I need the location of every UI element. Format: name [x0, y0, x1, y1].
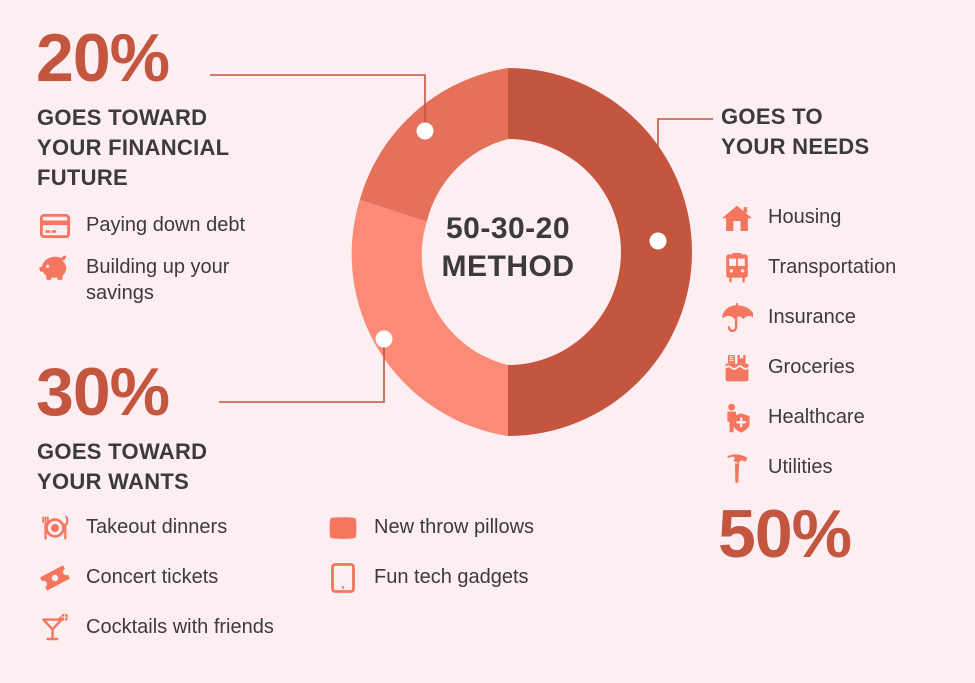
percent-30: 30%: [36, 358, 169, 426]
heading-financial-future: GOES TOWARD YOUR FINANCIAL FUTURE: [37, 103, 317, 193]
list-item-label: Building up your savings: [86, 251, 229, 306]
list-item[interactable]: Cocktails with friends: [38, 611, 274, 645]
list-item[interactable]: Concert tickets: [38, 561, 218, 595]
pillow-icon: [326, 511, 360, 545]
donut-slice-future: [360, 68, 508, 222]
list-item[interactable]: Fun tech gadgets: [326, 561, 529, 595]
list-item-label: New throw pillows: [374, 511, 534, 540]
list-item-label: Paying down debt: [86, 209, 245, 238]
percent-50: 50%: [718, 500, 851, 568]
credit-card-icon: [38, 209, 72, 243]
list-item[interactable]: Utilities: [720, 451, 832, 485]
list-item-label: Groceries: [768, 351, 855, 380]
list-item[interactable]: Insurance: [720, 301, 856, 335]
list-item[interactable]: Paying down debt: [38, 209, 245, 243]
donut-center-label: 50-30-20 METHOD: [324, 210, 692, 286]
house-icon: [720, 201, 754, 235]
list-item-label: Healthcare: [768, 401, 865, 430]
umbrella-icon: [720, 301, 754, 335]
list-item[interactable]: Housing: [720, 201, 841, 235]
list-item-label: Housing: [768, 201, 841, 230]
list-item-label: Takeout dinners: [86, 511, 227, 540]
tablet-icon: [326, 561, 360, 595]
list-item[interactable]: Transportation: [720, 251, 896, 285]
list-item-label: Fun tech gadgets: [374, 561, 529, 590]
bus-icon: [720, 251, 754, 285]
infographic-canvas: 50-30-20 METHOD 20% GOES TOWARD YOUR FIN…: [0, 0, 975, 683]
grocery-bag-icon: [720, 351, 754, 385]
hammer-icon: [720, 451, 754, 485]
list-item-label: Transportation: [768, 251, 896, 280]
cocktail-icon: [38, 611, 72, 645]
ticket-icon: [38, 561, 72, 595]
list-item[interactable]: New throw pillows: [326, 511, 534, 545]
percent-20: 20%: [36, 24, 169, 92]
list-item-label: Cocktails with friends: [86, 611, 274, 640]
piggy-bank-icon: [38, 251, 72, 285]
list-item[interactable]: Building up your savings: [38, 251, 229, 306]
list-item[interactable]: Healthcare: [720, 401, 865, 435]
healthcare-shield-icon: [720, 401, 754, 435]
heading-needs: GOES TO YOUR NEEDS: [721, 102, 961, 162]
list-item-label: Concert tickets: [86, 561, 218, 590]
list-item[interactable]: Takeout dinners: [38, 511, 227, 545]
list-item-label: Utilities: [768, 451, 832, 480]
list-item[interactable]: Groceries: [720, 351, 855, 385]
list-item-label: Insurance: [768, 301, 856, 330]
dinner-plate-icon: [38, 511, 72, 545]
heading-wants: GOES TOWARD YOUR WANTS: [37, 437, 317, 497]
